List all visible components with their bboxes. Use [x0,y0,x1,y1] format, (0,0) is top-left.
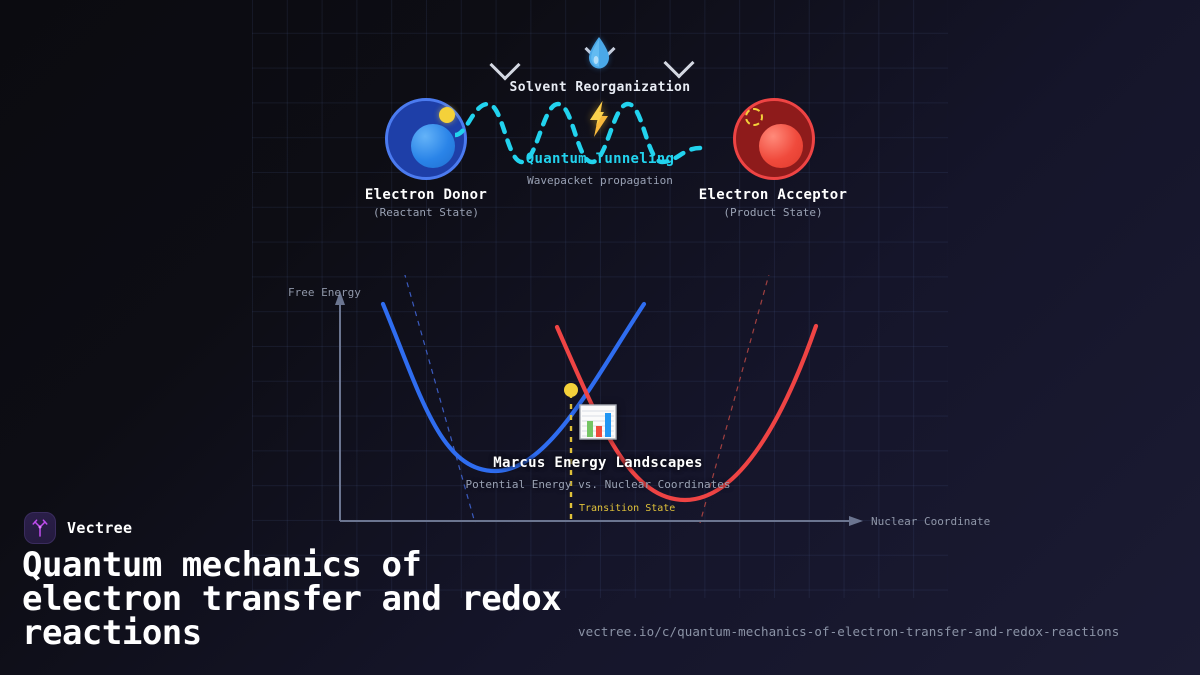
marcus-chart-subtitle: Potential Energy vs. Nuclear Coordinates [398,478,798,491]
water-droplet-icon [586,36,612,76]
solvent-reorganization-label: Solvent Reorganization [0,80,1200,95]
slide-canvas: Solvent Reorganization Electron Donor (R… [0,0,1200,675]
electron-acceptor-state-label: (Product State) [653,206,893,219]
activated-complex-marker [564,383,578,397]
electron-dot-icon [439,107,455,123]
brand-lockup: Vectree [24,512,132,544]
quantum-tunneling-label: Quantum Tunneling [420,151,780,167]
solvent-icon-row [0,16,1200,64]
bar-chart-icon [578,402,618,448]
electron-vacancy-dashed-icon [745,108,763,126]
page-title: Quantum mechanics of electron transfer a… [22,548,562,650]
permalink-url: vectree.io/c/quantum-mechanics-of-electr… [578,624,1119,639]
lightning-bolt-icon [585,100,613,144]
x-axis-label: Nuclear Coordinate [871,515,990,528]
chevron-down-icon [663,47,694,78]
electron-donor-label: Electron Donor [306,187,546,203]
electron-donor-state-label: (Reactant State) [306,206,546,219]
wavepacket-propagation-label: Wavepacket propagation [420,174,780,187]
y-axis-label: Free Energy [288,286,361,299]
brand-name: Vectree [67,519,132,537]
transition-state-label: Transition State [579,503,675,514]
chevron-down-icon [489,49,520,80]
electron-acceptor-label: Electron Acceptor [653,187,893,203]
solvent-reorganization-group: Solvent Reorganization [0,16,1200,64]
marcus-chart-title: Marcus Energy Landscapes [398,455,798,471]
vectree-tree-v-icon [24,512,56,544]
